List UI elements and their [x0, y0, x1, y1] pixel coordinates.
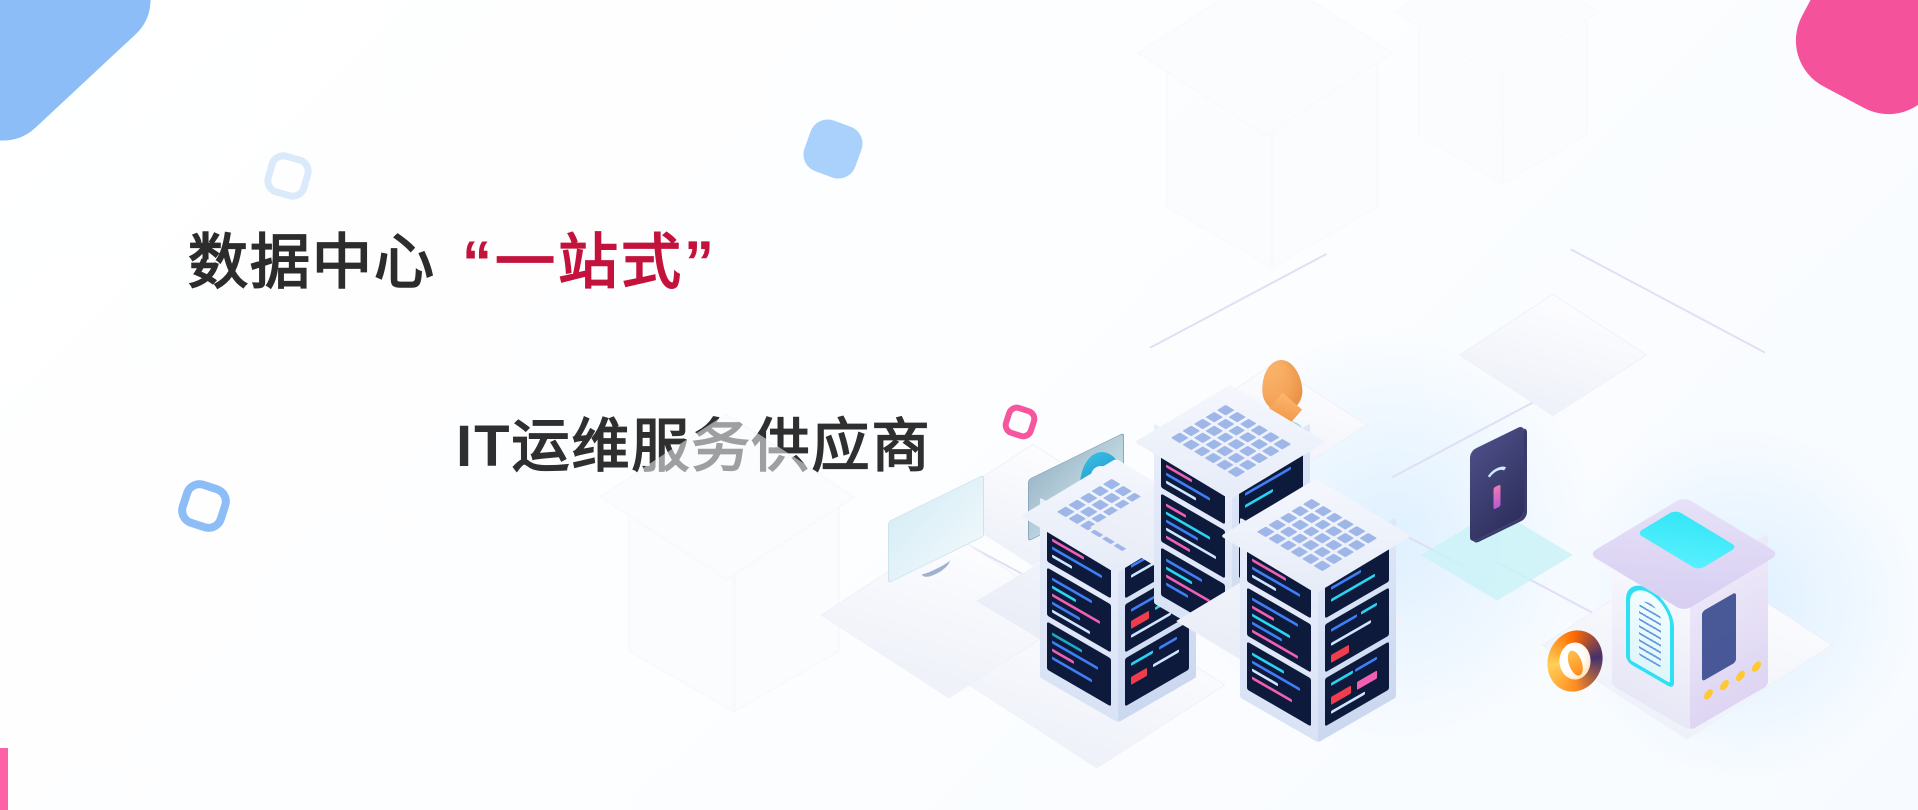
headline-line-1-red: “一站式” [462, 229, 717, 296]
corner-blue-shape [0, 0, 170, 160]
datacenter-illustration [858, 0, 1918, 810]
headline-line-1-dark: 数据中心 [188, 229, 436, 296]
edge-pink-bar [0, 748, 8, 810]
tower-panel [1702, 592, 1736, 682]
ring-blue-decoration [174, 476, 234, 536]
ring-blue-pale-decoration [261, 149, 315, 203]
iso-platform [1459, 294, 1648, 416]
hero-banner: 数据中心“一站式” IT运维服务供应商 [0, 0, 1918, 810]
network-line [1149, 253, 1326, 348]
